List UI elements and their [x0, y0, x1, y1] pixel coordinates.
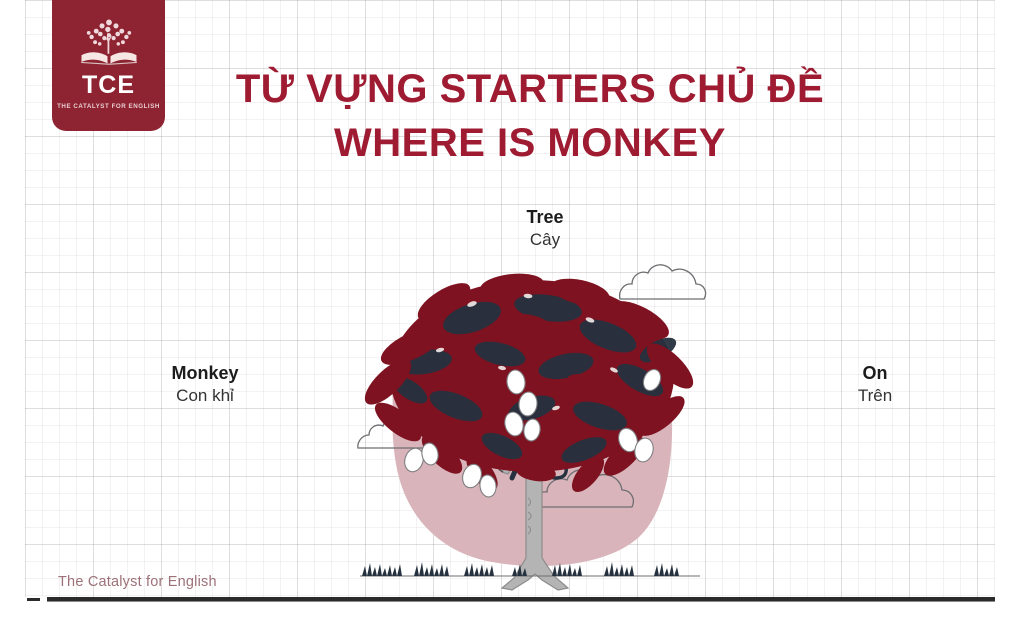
monkey-on-tree-illustration — [352, 258, 718, 598]
vocab-label-on: On Trên — [790, 362, 960, 407]
page-title-line1: TỪ VỰNG STARTERS CHỦ ĐỀ — [236, 67, 824, 111]
vocab-english-tree: Tree — [460, 206, 630, 229]
slide-canvas: TCE THE CATALYST FOR ENGLISH TỪ VỰNG STA… — [0, 0, 1024, 640]
page-title-line2: WHERE IS MONKEY — [180, 116, 880, 170]
logo-tagline: THE CATALYST FOR ENGLISH — [57, 103, 160, 110]
vocab-vietnamese-tree: Cây — [460, 229, 630, 251]
vocab-vietnamese-on: Trên — [790, 385, 960, 407]
vocab-label-tree: Tree Cây — [460, 206, 630, 251]
vocab-english-monkey: Monkey — [120, 362, 290, 385]
footer-dash — [27, 598, 40, 601]
logo-title: TCE — [82, 73, 135, 98]
page-title: TỪ VỰNG STARTERS CHỦ ĐỀ WHERE IS MONKEY — [180, 62, 880, 170]
vocab-vietnamese-monkey: Con khỉ — [120, 385, 290, 407]
footer-brand-text: The Catalyst for English — [58, 574, 217, 590]
vocab-english-on: On — [790, 362, 960, 385]
footer-rule — [47, 597, 995, 602]
vocab-label-monkey: Monkey Con khỉ — [120, 362, 290, 407]
tree-book-icon — [73, 12, 145, 70]
logo-badge[interactable]: TCE THE CATALYST FOR ENGLISH — [52, 0, 165, 131]
cloud-top-right — [620, 265, 706, 299]
